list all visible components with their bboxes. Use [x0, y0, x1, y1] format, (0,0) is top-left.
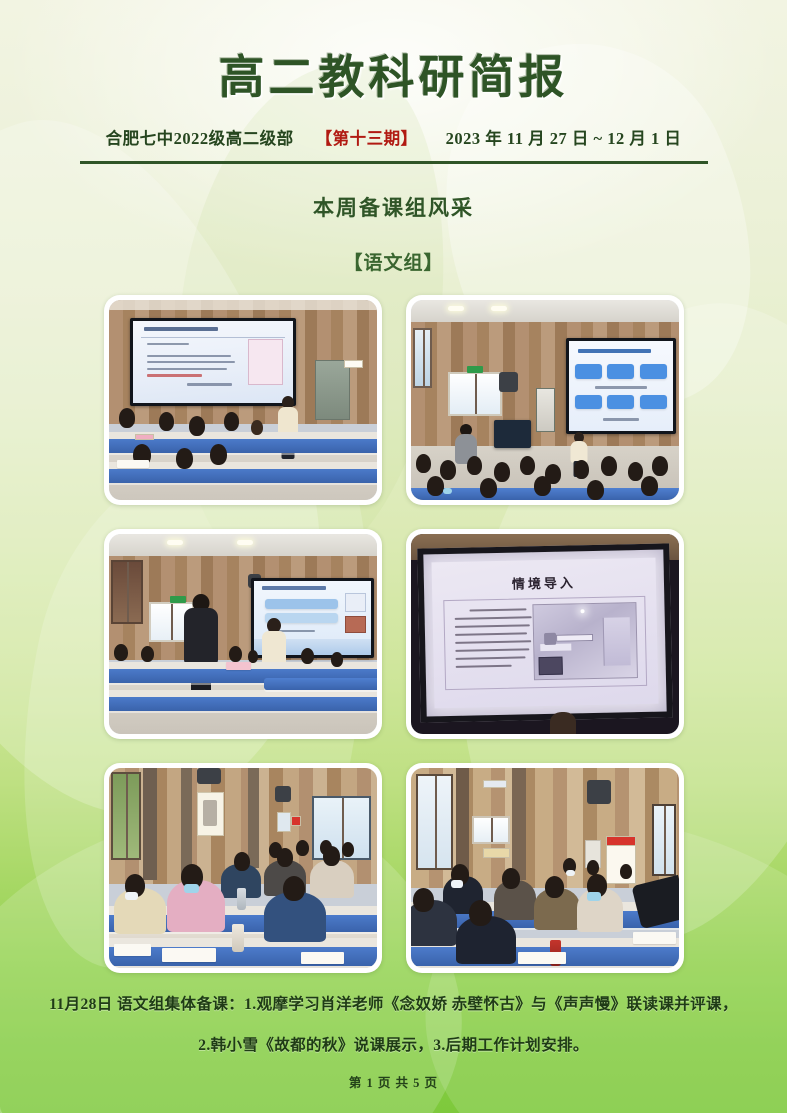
- photo-3-image: [109, 534, 377, 734]
- section-title: 本周备课组风采: [0, 192, 787, 222]
- photo-4: 情境导入: [406, 529, 684, 739]
- school-grade-label: 合肥七中2022级高二级部: [106, 125, 294, 149]
- photo-2-image: [411, 300, 679, 500]
- photo-3: [104, 529, 382, 739]
- photo-2: [406, 295, 684, 505]
- photo-5-image: [109, 768, 377, 968]
- caption-line-2: 2.韩小雪《故都的秋》说课展示，3.后期工作计划安排。: [0, 1036, 787, 1057]
- photo-6-image: [411, 768, 679, 968]
- masthead: 高二教科研简报 合肥七中2022级高二级部 【第十三期】 2023 年 11 月…: [0, 0, 787, 164]
- caption-line-1: 11月28日 语文组集体备课：1.观摩学习肖洋老师《念奴娇 赤壁怀古》与《声声慢…: [0, 995, 787, 1016]
- group-title: 【语文组】: [0, 248, 787, 275]
- caption-block: 11月28日 语文组集体备课：1.观摩学习肖洋老师《念奴娇 赤壁怀古》与《声声慢…: [0, 995, 787, 1057]
- page-number: 第 1 页 共 5 页: [0, 1072, 787, 1091]
- photo-1: [104, 295, 382, 505]
- masthead-divider: [80, 161, 708, 164]
- photo-grid: 情境导入: [104, 295, 684, 973]
- masthead-subline: 合肥七中2022级高二级部 【第十三期】 2023 年 11 月 27 日 ~ …: [0, 125, 787, 149]
- photo-4-image: 情境导入: [411, 534, 679, 734]
- photo-1-image: [109, 300, 377, 500]
- photo-6: [406, 763, 684, 973]
- issue-number-label: 【第十三期】: [316, 125, 418, 149]
- slide-title-text: 情境导入: [511, 572, 575, 592]
- newsletter-page: 高二教科研简报 合肥七中2022级高二级部 【第十三期】 2023 年 11 月…: [0, 0, 787, 1113]
- photo-5: [104, 763, 382, 973]
- date-range-label: 2023 年 11 月 27 日 ~ 12 月 1 日: [446, 125, 682, 149]
- page-content: 高二教科研简报 合肥七中2022级高二级部 【第十三期】 2023 年 11 月…: [0, 0, 787, 1113]
- page-title: 高二教科研简报: [0, 52, 787, 105]
